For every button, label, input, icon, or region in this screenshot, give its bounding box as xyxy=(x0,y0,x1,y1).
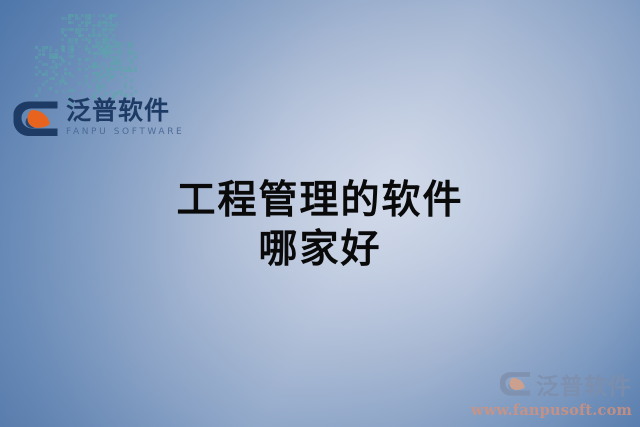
fanpu-logo-mark-icon xyxy=(12,100,59,138)
watermark-logo-mark-icon xyxy=(499,371,531,397)
brand-name-en: FANPU SOFTWARE xyxy=(66,127,184,137)
headline-line-2: 哪家好 xyxy=(0,225,640,274)
watermark: 泛普软件 www.fanpusoft.com xyxy=(471,367,632,419)
brand-text-block: 泛普软件 FANPU SOFTWARE xyxy=(66,98,184,137)
watermark-url: www.fanpusoft.com xyxy=(471,402,632,419)
watermark-name-cn: 泛普软件 xyxy=(536,367,632,401)
brand-name-cn: 泛普软件 xyxy=(66,98,184,124)
promotional-banner: 泛普软件 FANPU SOFTWARE 工程管理的软件 哪家好 泛普软件 www… xyxy=(0,0,640,427)
headline-block: 工程管理的软件 哪家好 xyxy=(0,176,640,274)
pixel-skyline-icon xyxy=(33,4,133,100)
headline-line-1: 工程管理的软件 xyxy=(0,176,640,225)
watermark-logo-row: 泛普软件 xyxy=(471,367,632,401)
brand-logo: 泛普软件 FANPU SOFTWARE xyxy=(12,98,184,138)
